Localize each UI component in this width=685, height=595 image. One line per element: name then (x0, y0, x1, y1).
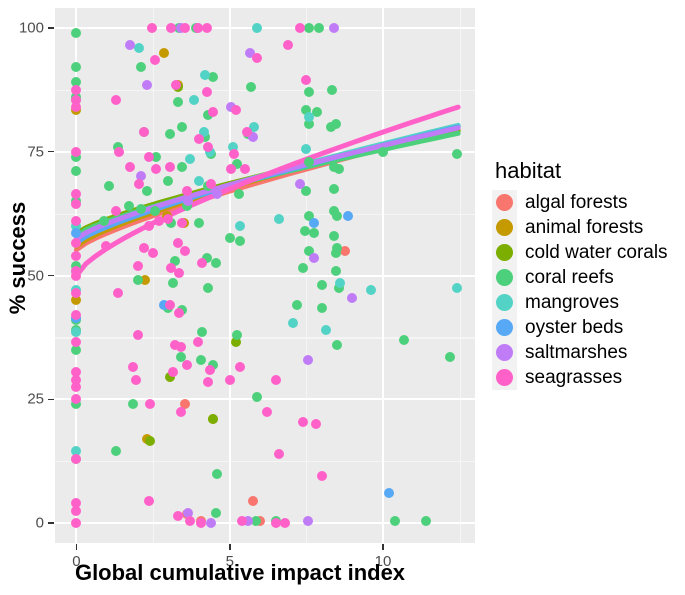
data-point (133, 330, 143, 340)
data-point (347, 293, 357, 303)
data-point (173, 511, 183, 521)
data-point (212, 189, 222, 199)
data-point (292, 300, 302, 310)
data-point (317, 280, 327, 290)
data-point (232, 330, 242, 340)
data-point (71, 506, 81, 516)
legend-label: seagrasses (525, 367, 622, 389)
data-point (248, 496, 258, 506)
data-point (71, 28, 81, 38)
legend-item[interactable]: mangroves (492, 290, 668, 315)
legend-label: cold water corals (525, 242, 668, 264)
data-point (206, 179, 216, 189)
data-point (176, 407, 186, 417)
data-point (298, 263, 308, 273)
data-point (71, 166, 81, 176)
data-point (332, 340, 342, 350)
legend-title: habitat (495, 158, 668, 184)
data-point (202, 87, 212, 97)
data-point (163, 214, 173, 224)
data-point (124, 201, 134, 211)
data-point (203, 377, 213, 387)
data-point (150, 55, 160, 65)
legend-label: saltmarshes (525, 342, 627, 364)
data-point (147, 23, 157, 33)
data-point (136, 62, 146, 72)
data-point (150, 206, 160, 216)
legend-color-dot-icon (496, 344, 513, 361)
y-tick-mark (48, 27, 54, 29)
data-point (304, 87, 314, 97)
data-point (399, 335, 409, 345)
legend-color-dot-icon (496, 194, 513, 211)
data-point (314, 23, 324, 33)
figure-root: 02550751000510 Global cumulative impact … (0, 0, 685, 595)
data-point (171, 80, 181, 90)
data-point (71, 382, 81, 392)
data-point (202, 23, 212, 33)
legend-key (492, 215, 517, 240)
data-point (174, 308, 184, 318)
data-point (235, 362, 245, 372)
data-point (145, 436, 155, 446)
data-point (101, 241, 111, 251)
data-point (111, 446, 121, 456)
data-point (321, 325, 331, 335)
data-point (229, 149, 239, 159)
data-point (189, 95, 199, 105)
data-point (194, 218, 204, 228)
data-point (211, 508, 221, 518)
data-point (131, 375, 141, 385)
y-tick-label: 0 (0, 515, 44, 532)
data-point (134, 43, 144, 53)
scatter-points (55, 8, 475, 543)
data-point (225, 233, 235, 243)
data-point (331, 266, 341, 276)
data-point (71, 271, 81, 281)
data-point (335, 278, 345, 288)
data-point (343, 211, 353, 221)
data-point (128, 399, 138, 409)
data-point (452, 149, 462, 159)
data-point (71, 251, 81, 261)
data-point (142, 80, 152, 90)
data-point (180, 246, 190, 256)
legend-key (492, 340, 517, 365)
data-point (329, 184, 339, 194)
data-point (99, 216, 109, 226)
data-point (165, 129, 175, 139)
data-point (298, 417, 308, 427)
data-point (183, 196, 193, 206)
y-tick-mark (48, 275, 54, 277)
data-point (139, 127, 149, 137)
data-point (136, 204, 146, 214)
legend-label: algal forests (525, 192, 627, 214)
data-point (212, 469, 222, 479)
legend-item[interactable]: oyster beds (492, 315, 668, 340)
data-point (327, 85, 337, 95)
data-point (71, 454, 81, 464)
data-point (128, 362, 138, 372)
data-point (295, 23, 305, 33)
data-point (317, 303, 327, 313)
data-point (173, 97, 183, 107)
data-point (165, 300, 175, 310)
data-point (196, 355, 206, 365)
data-point (142, 186, 152, 196)
data-point (185, 516, 195, 526)
legend-label: animal forests (525, 217, 643, 239)
data-point (174, 268, 184, 278)
data-point (163, 176, 173, 186)
data-point (231, 105, 241, 115)
data-point (301, 75, 311, 85)
data-point (114, 147, 124, 157)
data-point (309, 253, 319, 263)
data-point (180, 23, 190, 33)
data-point (159, 48, 169, 58)
legend-key (492, 290, 517, 315)
data-point (242, 127, 252, 137)
data-point (332, 211, 342, 221)
plot-panel (55, 8, 475, 543)
data-point (208, 107, 218, 117)
data-point (208, 414, 218, 424)
data-point (144, 496, 154, 506)
data-point (225, 375, 235, 385)
data-point (177, 162, 187, 172)
legend-key (492, 265, 517, 290)
data-point (445, 352, 455, 362)
data-point (194, 134, 204, 144)
data-point (274, 449, 284, 459)
data-point (283, 40, 293, 50)
data-point (452, 283, 462, 293)
legend-label: oyster beds (525, 317, 623, 339)
x-tick-mark (229, 544, 231, 550)
data-point (309, 228, 319, 238)
legend-color-dot-icon (496, 369, 513, 386)
legend-label: coral reefs (525, 267, 614, 289)
data-point (165, 162, 175, 172)
legend-color-dot-icon (496, 244, 513, 261)
legend-items: algal forestsanimal forestscold water co… (492, 190, 668, 390)
data-point (71, 199, 81, 209)
data-point (176, 342, 186, 352)
data-point (235, 236, 245, 246)
legend-item[interactable]: coral reefs (492, 265, 668, 290)
legend-key (492, 315, 517, 340)
legend-color-dot-icon (496, 319, 513, 336)
data-point (133, 261, 143, 271)
data-point (384, 488, 394, 498)
data-point (168, 367, 178, 377)
x-axis-label: Global cumulative impact index (0, 560, 480, 586)
y-tick-mark (48, 399, 54, 401)
data-point (226, 164, 236, 174)
data-point (303, 355, 313, 365)
data-point (148, 248, 158, 258)
data-point (329, 231, 339, 241)
data-point (211, 258, 221, 268)
y-tick-label: 25 (0, 391, 44, 408)
data-point (303, 516, 313, 526)
data-point (378, 147, 388, 157)
data-point (111, 95, 121, 105)
legend-color-dot-icon (496, 219, 513, 236)
data-point (252, 53, 262, 63)
data-point (240, 164, 250, 174)
data-point (196, 518, 206, 528)
data-point (71, 238, 81, 248)
data-point (144, 152, 154, 162)
data-point (177, 122, 187, 132)
data-point (71, 228, 81, 238)
data-point (252, 23, 262, 33)
legend-item[interactable]: seagrasses (492, 365, 668, 390)
y-axis-label: % success (5, 138, 31, 378)
data-point (301, 144, 311, 154)
data-point (280, 518, 290, 528)
y-tick-mark (48, 151, 54, 153)
data-point (113, 288, 123, 298)
data-point (331, 248, 341, 258)
x-tick-mark (382, 544, 384, 550)
legend-color-dot-icon (496, 269, 513, 286)
legend-item[interactable]: animal forests (492, 215, 668, 240)
data-point (203, 283, 213, 293)
data-point (390, 516, 400, 526)
legend-item[interactable]: cold water corals (492, 240, 668, 265)
legend: habitat algal forestsanimal forestscold … (492, 158, 668, 390)
data-point (144, 221, 154, 231)
data-point (421, 516, 431, 526)
legend-item[interactable]: algal forests (492, 190, 668, 215)
legend-item[interactable]: saltmarshes (492, 340, 668, 365)
data-point (288, 318, 298, 328)
data-point (317, 471, 327, 481)
data-point (197, 258, 207, 268)
data-point (197, 327, 207, 337)
data-point (206, 518, 216, 528)
legend-key (492, 365, 517, 390)
y-tick-mark (48, 522, 54, 524)
legend-key (492, 240, 517, 265)
data-point (334, 164, 344, 174)
data-point (71, 62, 81, 72)
data-point (71, 518, 81, 528)
data-point (329, 23, 339, 33)
data-point (274, 214, 284, 224)
data-point (168, 278, 178, 288)
data-point (235, 221, 245, 231)
legend-label: mangroves (525, 292, 619, 314)
data-point (145, 399, 155, 409)
data-point (252, 392, 262, 402)
data-point (203, 142, 213, 152)
data-point (182, 186, 192, 196)
data-point (271, 375, 281, 385)
data-point (246, 82, 256, 92)
data-point (366, 285, 376, 295)
data-point (205, 365, 215, 375)
y-tick-label: 100 (0, 19, 44, 36)
data-point (311, 419, 321, 429)
legend-color-dot-icon (496, 294, 513, 311)
x-tick-mark (76, 544, 78, 550)
data-point (262, 407, 272, 417)
data-point (193, 337, 203, 347)
data-point (185, 154, 195, 164)
data-point (111, 206, 121, 216)
data-point (304, 157, 314, 167)
data-point (237, 516, 247, 526)
legend-key (492, 190, 517, 215)
data-point (182, 360, 192, 370)
data-point (151, 164, 161, 174)
data-point (71, 337, 81, 347)
data-point (331, 119, 341, 129)
data-point (125, 162, 135, 172)
data-point (71, 327, 81, 337)
data-point (234, 189, 244, 199)
data-point (309, 218, 319, 228)
data-point (104, 181, 114, 191)
data-point (304, 23, 314, 33)
